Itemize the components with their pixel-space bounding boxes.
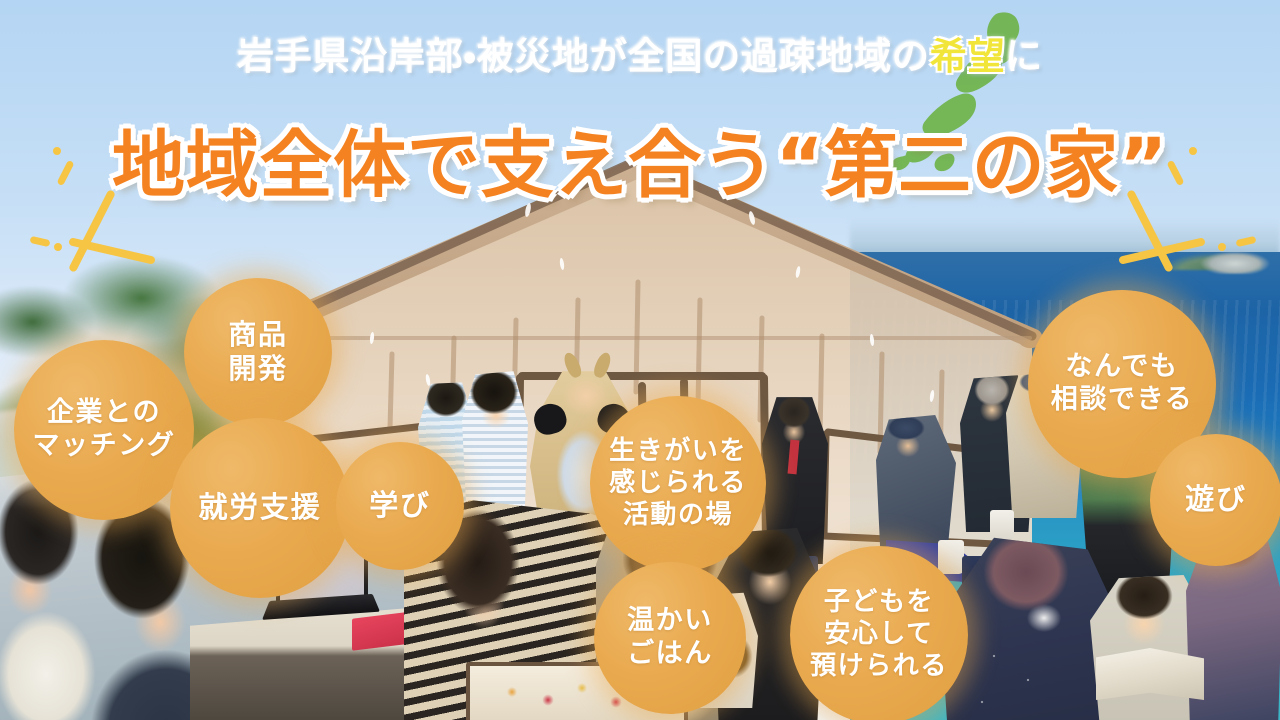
benefit-bubble-kodomo-anshin[interactable]: 子どもを 安心して 預けられる	[790, 546, 968, 720]
headline-after: に	[1005, 35, 1043, 78]
picture-book-icon	[1096, 648, 1204, 700]
benefit-bubble-manabi[interactable]: 学び	[336, 442, 464, 570]
benefit-bubble-shohin-kaihatsu[interactable]: 商品 開発	[184, 278, 332, 426]
boot-white-c	[990, 510, 1014, 540]
sparkle-dash-right-icon	[1218, 243, 1226, 251]
benefit-bubble-atatakai-gohan[interactable]: 温かい ごはん	[594, 562, 746, 714]
page-subheadline: 岩手県沿岸部・被災地が全国の過疎地域の希望に	[0, 26, 1280, 80]
page-title: 地域全体で支え合う“第二の家”	[0, 106, 1280, 212]
boot-white-b	[938, 540, 964, 574]
benefit-bubble-asobi[interactable]: 遊び	[1150, 434, 1280, 566]
headline-before: 岩手県沿岸部・被災地が全国の過疎地域の	[237, 35, 930, 78]
cape-rock	[1196, 248, 1274, 274]
benefit-bubble-kigyo-matching[interactable]: 企業との マッチング	[14, 340, 194, 520]
benefit-bubble-shuro-shien[interactable]: 就労支援	[170, 418, 350, 598]
benefit-bubble-ikigai[interactable]: 生きがいを 感じられる 活動の場	[590, 396, 766, 572]
poster-root: 企業との マッチング商品 開発就労支援学び生きがいを 感じられる 活動の場温かい…	[0, 0, 1280, 720]
headline-highlight: 希望	[930, 35, 1005, 78]
sparkle-dash-left-icon	[54, 243, 62, 251]
